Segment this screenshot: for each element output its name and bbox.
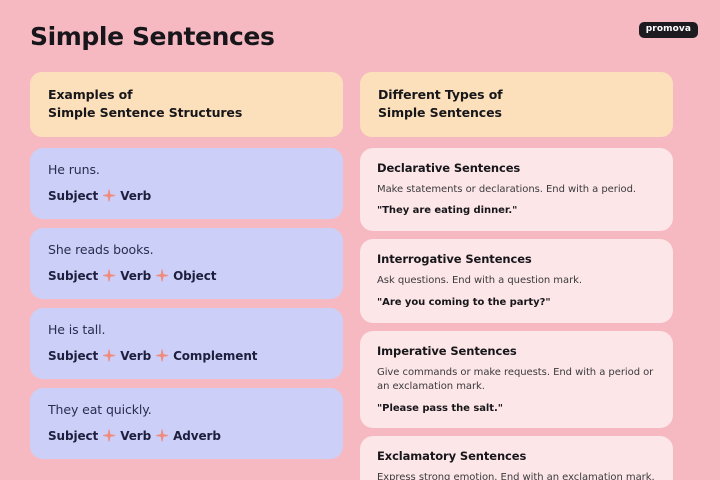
formula-part: Verb	[120, 349, 151, 363]
structure-formula: Subject Verb Complement	[48, 349, 325, 363]
structure-card: They eat quickly. Subject Verb Adverb	[30, 388, 343, 459]
formula-part: Adverb	[173, 429, 221, 443]
structure-formula: Subject Verb Object	[48, 269, 325, 283]
sentence-type-card: Exclamatory Sentences Express strong emo…	[360, 436, 673, 480]
structure-example: They eat quickly.	[48, 402, 325, 417]
formula-part: Complement	[173, 349, 257, 363]
left-column: Examples of Simple Sentence Structures H…	[30, 72, 343, 480]
sentence-type-description: Make statements or declarations. End wit…	[377, 183, 656, 198]
sentence-type-card: Interrogative Sentences Ask questions. E…	[360, 239, 673, 323]
formula-part: Subject	[48, 269, 98, 283]
right-header-line-1: Different Types of	[378, 86, 655, 104]
structure-example: He runs.	[48, 162, 325, 177]
structure-card: She reads books. Subject Verb Object	[30, 228, 343, 299]
sentence-type-example: "They are eating dinner."	[377, 204, 656, 217]
plus-icon	[151, 429, 173, 442]
plus-icon	[98, 349, 120, 362]
sentence-type-example: "Are you coming to the party?"	[377, 296, 656, 309]
formula-part: Verb	[120, 189, 151, 203]
structure-card: He runs. Subject Verb	[30, 148, 343, 219]
right-header-line-2: Simple Sentences	[378, 104, 655, 122]
right-column: Different Types of Simple Sentences Decl…	[360, 72, 673, 480]
right-column-header: Different Types of Simple Sentences	[360, 72, 673, 137]
promova-logo: promova	[639, 22, 698, 38]
formula-part: Verb	[120, 429, 151, 443]
formula-part: Subject	[48, 429, 98, 443]
plus-icon	[98, 269, 120, 282]
page-title: Simple Sentences	[30, 22, 274, 51]
plus-icon	[98, 189, 120, 202]
plus-icon	[151, 349, 173, 362]
formula-part: Verb	[120, 269, 151, 283]
structure-example: He is tall.	[48, 322, 325, 337]
structure-formula: Subject Verb	[48, 189, 325, 203]
content-columns: Examples of Simple Sentence Structures H…	[0, 72, 720, 480]
plus-icon	[151, 269, 173, 282]
structure-formula: Subject Verb Adverb	[48, 429, 325, 443]
left-header-line-2: Simple Sentence Structures	[48, 104, 325, 122]
structure-example: She reads books.	[48, 242, 325, 257]
structure-card: He is tall. Subject Verb Complement	[30, 308, 343, 379]
formula-part: Subject	[48, 189, 98, 203]
sentence-type-description: Give commands or make requests. End with…	[377, 366, 656, 395]
sentence-type-card: Imperative Sentences Give commands or ma…	[360, 331, 673, 428]
left-header-line-1: Examples of	[48, 86, 325, 104]
sentence-type-card: Declarative Sentences Make statements or…	[360, 148, 673, 232]
formula-part: Object	[173, 269, 216, 283]
sentence-type-title: Exclamatory Sentences	[377, 449, 656, 463]
sentence-type-description: Ask questions. End with a question mark.	[377, 274, 656, 289]
plus-icon	[98, 429, 120, 442]
sentence-type-description: Express strong emotion. End with an excl…	[377, 471, 656, 480]
sentence-type-title: Interrogative Sentences	[377, 252, 656, 266]
formula-part: Subject	[48, 349, 98, 363]
sentence-type-example: "Please pass the salt."	[377, 402, 656, 415]
left-column-header: Examples of Simple Sentence Structures	[30, 72, 343, 137]
sentence-type-title: Imperative Sentences	[377, 344, 656, 358]
sentence-type-title: Declarative Sentences	[377, 161, 656, 175]
